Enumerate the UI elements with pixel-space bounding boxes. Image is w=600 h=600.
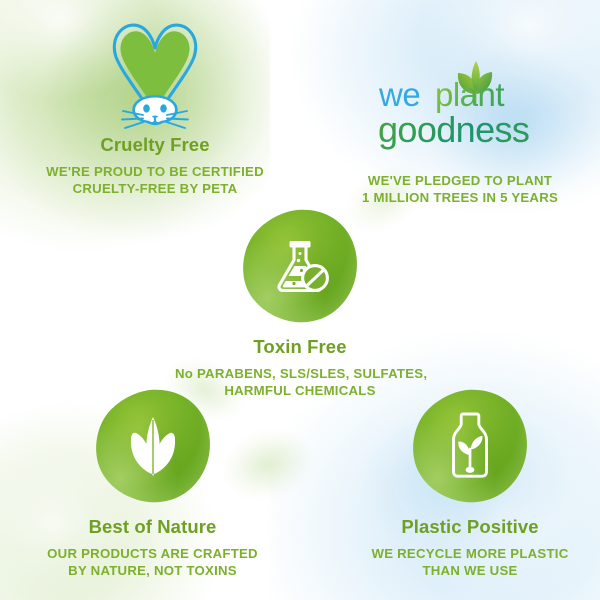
- we-plant-goodness-logo: we plant goodness we plant goodness: [365, 58, 555, 150]
- infographic-canvas: Cruelty Free WE'RE PROUD TO BE CERTIFIED…: [0, 0, 600, 600]
- logo-word-plant: plant: [460, 159, 461, 160]
- cruelty-free-subtitle: WE'RE PROUD TO BE CERTIFIED CRUELTY-FREE…: [20, 163, 290, 198]
- logo-word-we: we: [460, 159, 461, 160]
- logo-word-goodness: goodness: [460, 159, 461, 160]
- block-plastic-positive: Plastic Positive WE RECYCLE MORE PLASTIC…: [345, 388, 595, 580]
- we-plant-goodness-subtitle: WE'VE PLEDGED TO PLANT 1 MILLION TREES I…: [330, 172, 590, 207]
- plastic-positive-title: Plastic Positive: [345, 516, 595, 538]
- flask-no-entry-icon: [242, 208, 358, 324]
- we-plant-goodness-subtitle-line-2: 1 MILLION TREES IN 5 YEARS: [330, 189, 590, 206]
- plastic-positive-subtitle-line-2: THAN WE USE: [345, 562, 595, 579]
- plastic-positive-badge: [412, 388, 528, 504]
- leaves-icon: [95, 388, 211, 504]
- best-of-nature-subtitle: OUR PRODUCTS ARE CRAFTED BY NATURE, NOT …: [25, 545, 280, 580]
- toxin-free-subtitle-line-1: No PARABENS, SLS/SLES, SULFATES,: [175, 365, 425, 382]
- svg-text:plant: plant: [435, 76, 504, 113]
- best-of-nature-title: Best of Nature: [25, 516, 280, 538]
- best-of-nature-subtitle-line-1: OUR PRODUCTS ARE CRAFTED: [25, 545, 280, 562]
- cruelty-free-subtitle-line-2: CRUELTY-FREE BY PETA: [20, 180, 290, 197]
- peta-bunny-heart-icon: [20, 14, 290, 134]
- cruelty-free-subtitle-line-1: WE'RE PROUD TO BE CERTIFIED: [20, 163, 290, 180]
- toxin-free-title: Toxin Free: [175, 336, 425, 358]
- we-plant-goodness-subtitle-line-1: WE'VE PLEDGED TO PLANT: [330, 172, 590, 189]
- toxin-free-badge: [242, 208, 358, 324]
- plastic-positive-subtitle-line-1: WE RECYCLE MORE PLASTIC: [345, 545, 595, 562]
- block-we-plant-goodness: we plant goodness we plant goodness WE'V…: [330, 58, 590, 207]
- cruelty-free-title: Cruelty Free: [20, 134, 290, 156]
- best-of-nature-subtitle-line-2: BY NATURE, NOT TOXINS: [25, 562, 280, 579]
- block-toxin-free: Toxin Free No PARABENS, SLS/SLES, SULFAT…: [175, 208, 425, 400]
- block-best-of-nature: Best of Nature OUR PRODUCTS ARE CRAFTED …: [25, 388, 280, 580]
- plastic-positive-subtitle: WE RECYCLE MORE PLASTIC THAN WE USE: [345, 545, 595, 580]
- block-cruelty-free: Cruelty Free WE'RE PROUD TO BE CERTIFIED…: [20, 14, 290, 198]
- bottle-sprout-icon: [412, 388, 528, 504]
- svg-text:we: we: [378, 76, 420, 113]
- svg-text:goodness: goodness: [378, 109, 529, 150]
- best-of-nature-badge: [95, 388, 211, 504]
